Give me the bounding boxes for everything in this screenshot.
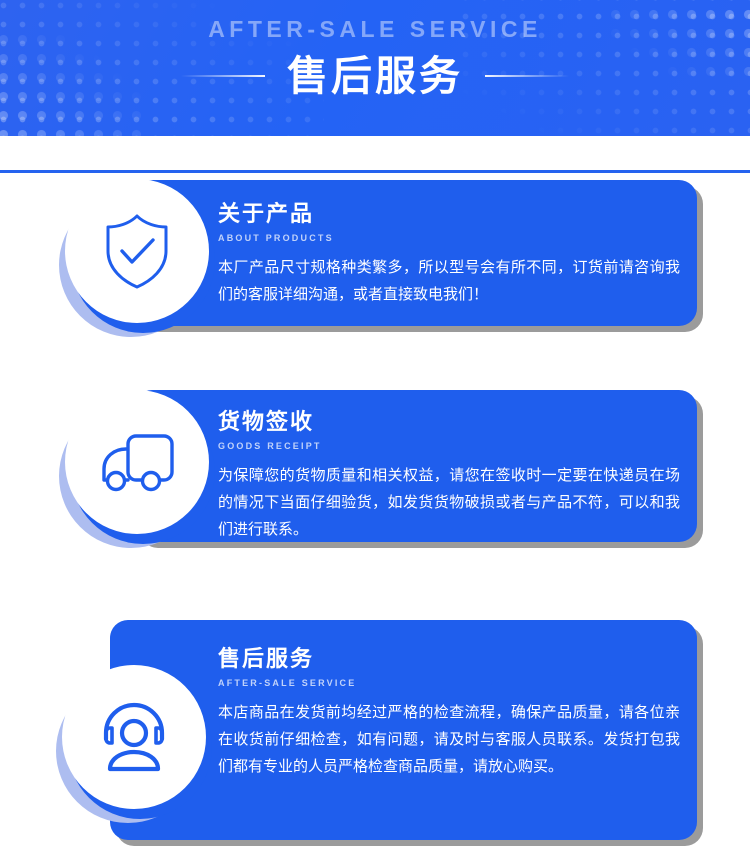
- medallion-face: [62, 665, 206, 809]
- shield-check-icon: [99, 211, 175, 291]
- page-header-banner: AFTER-SALE SERVICE 售后服务: [0, 0, 750, 136]
- card-title: 售后服务: [218, 645, 680, 673]
- medallion-face: [65, 179, 209, 323]
- banner-chinese-title: 售后服务: [287, 50, 463, 102]
- card-subtitle: ABOUT PRODUCTS: [218, 233, 680, 244]
- header-divider-line: [0, 170, 750, 173]
- card-icon-medallion: [59, 390, 215, 548]
- medallion-face: [65, 390, 209, 534]
- card-description: 本厂产品尺寸规格种类繁多，所以型号会有所不同，订货前请咨询我们的客服详细沟通，或…: [218, 254, 680, 308]
- card-icon-medallion: [59, 179, 215, 337]
- banner-english-title: AFTER-SALE SERVICE: [0, 16, 750, 43]
- delivery-truck-icon: [94, 427, 180, 497]
- card-description: 为保障您的货物质量和相关权益，请您在签收时一定要在快递员在场的情况下当面仔细验货…: [218, 462, 680, 543]
- card-subtitle: AFTER-SALE SERVICE: [218, 678, 680, 689]
- card-content: 货物签收 GOODS RECEIPT 为保障您的货物质量和相关权益，请您在签收时…: [218, 408, 680, 543]
- card-icon-medallion: [56, 665, 212, 823]
- card-content: 关于产品 ABOUT PRODUCTS 本厂产品尺寸规格种类繁多，所以型号会有所…: [218, 200, 680, 308]
- decorative-line-right: [485, 75, 569, 77]
- card-content: 售后服务 AFTER-SALE SERVICE 本店商品在发货前均经过严格的检查…: [218, 645, 680, 780]
- card-title: 货物签收: [218, 408, 680, 436]
- card-title: 关于产品: [218, 200, 680, 228]
- decorative-line-left: [181, 75, 265, 77]
- card-panel: 关于产品 ABOUT PRODUCTS 本厂产品尺寸规格种类繁多，所以型号会有所…: [134, 180, 697, 326]
- banner-title-row: 售后服务: [0, 50, 750, 102]
- card-subtitle: GOODS RECEIPT: [218, 441, 680, 452]
- card-panel: 货物签收 GOODS RECEIPT 为保障您的货物质量和相关权益，请您在签收时…: [134, 390, 697, 542]
- headset-support-icon: [94, 699, 174, 775]
- card-description: 本店商品在发货前均经过严格的检查流程，确保产品质量，请各位亲在收货前仔细检查，如…: [218, 699, 680, 780]
